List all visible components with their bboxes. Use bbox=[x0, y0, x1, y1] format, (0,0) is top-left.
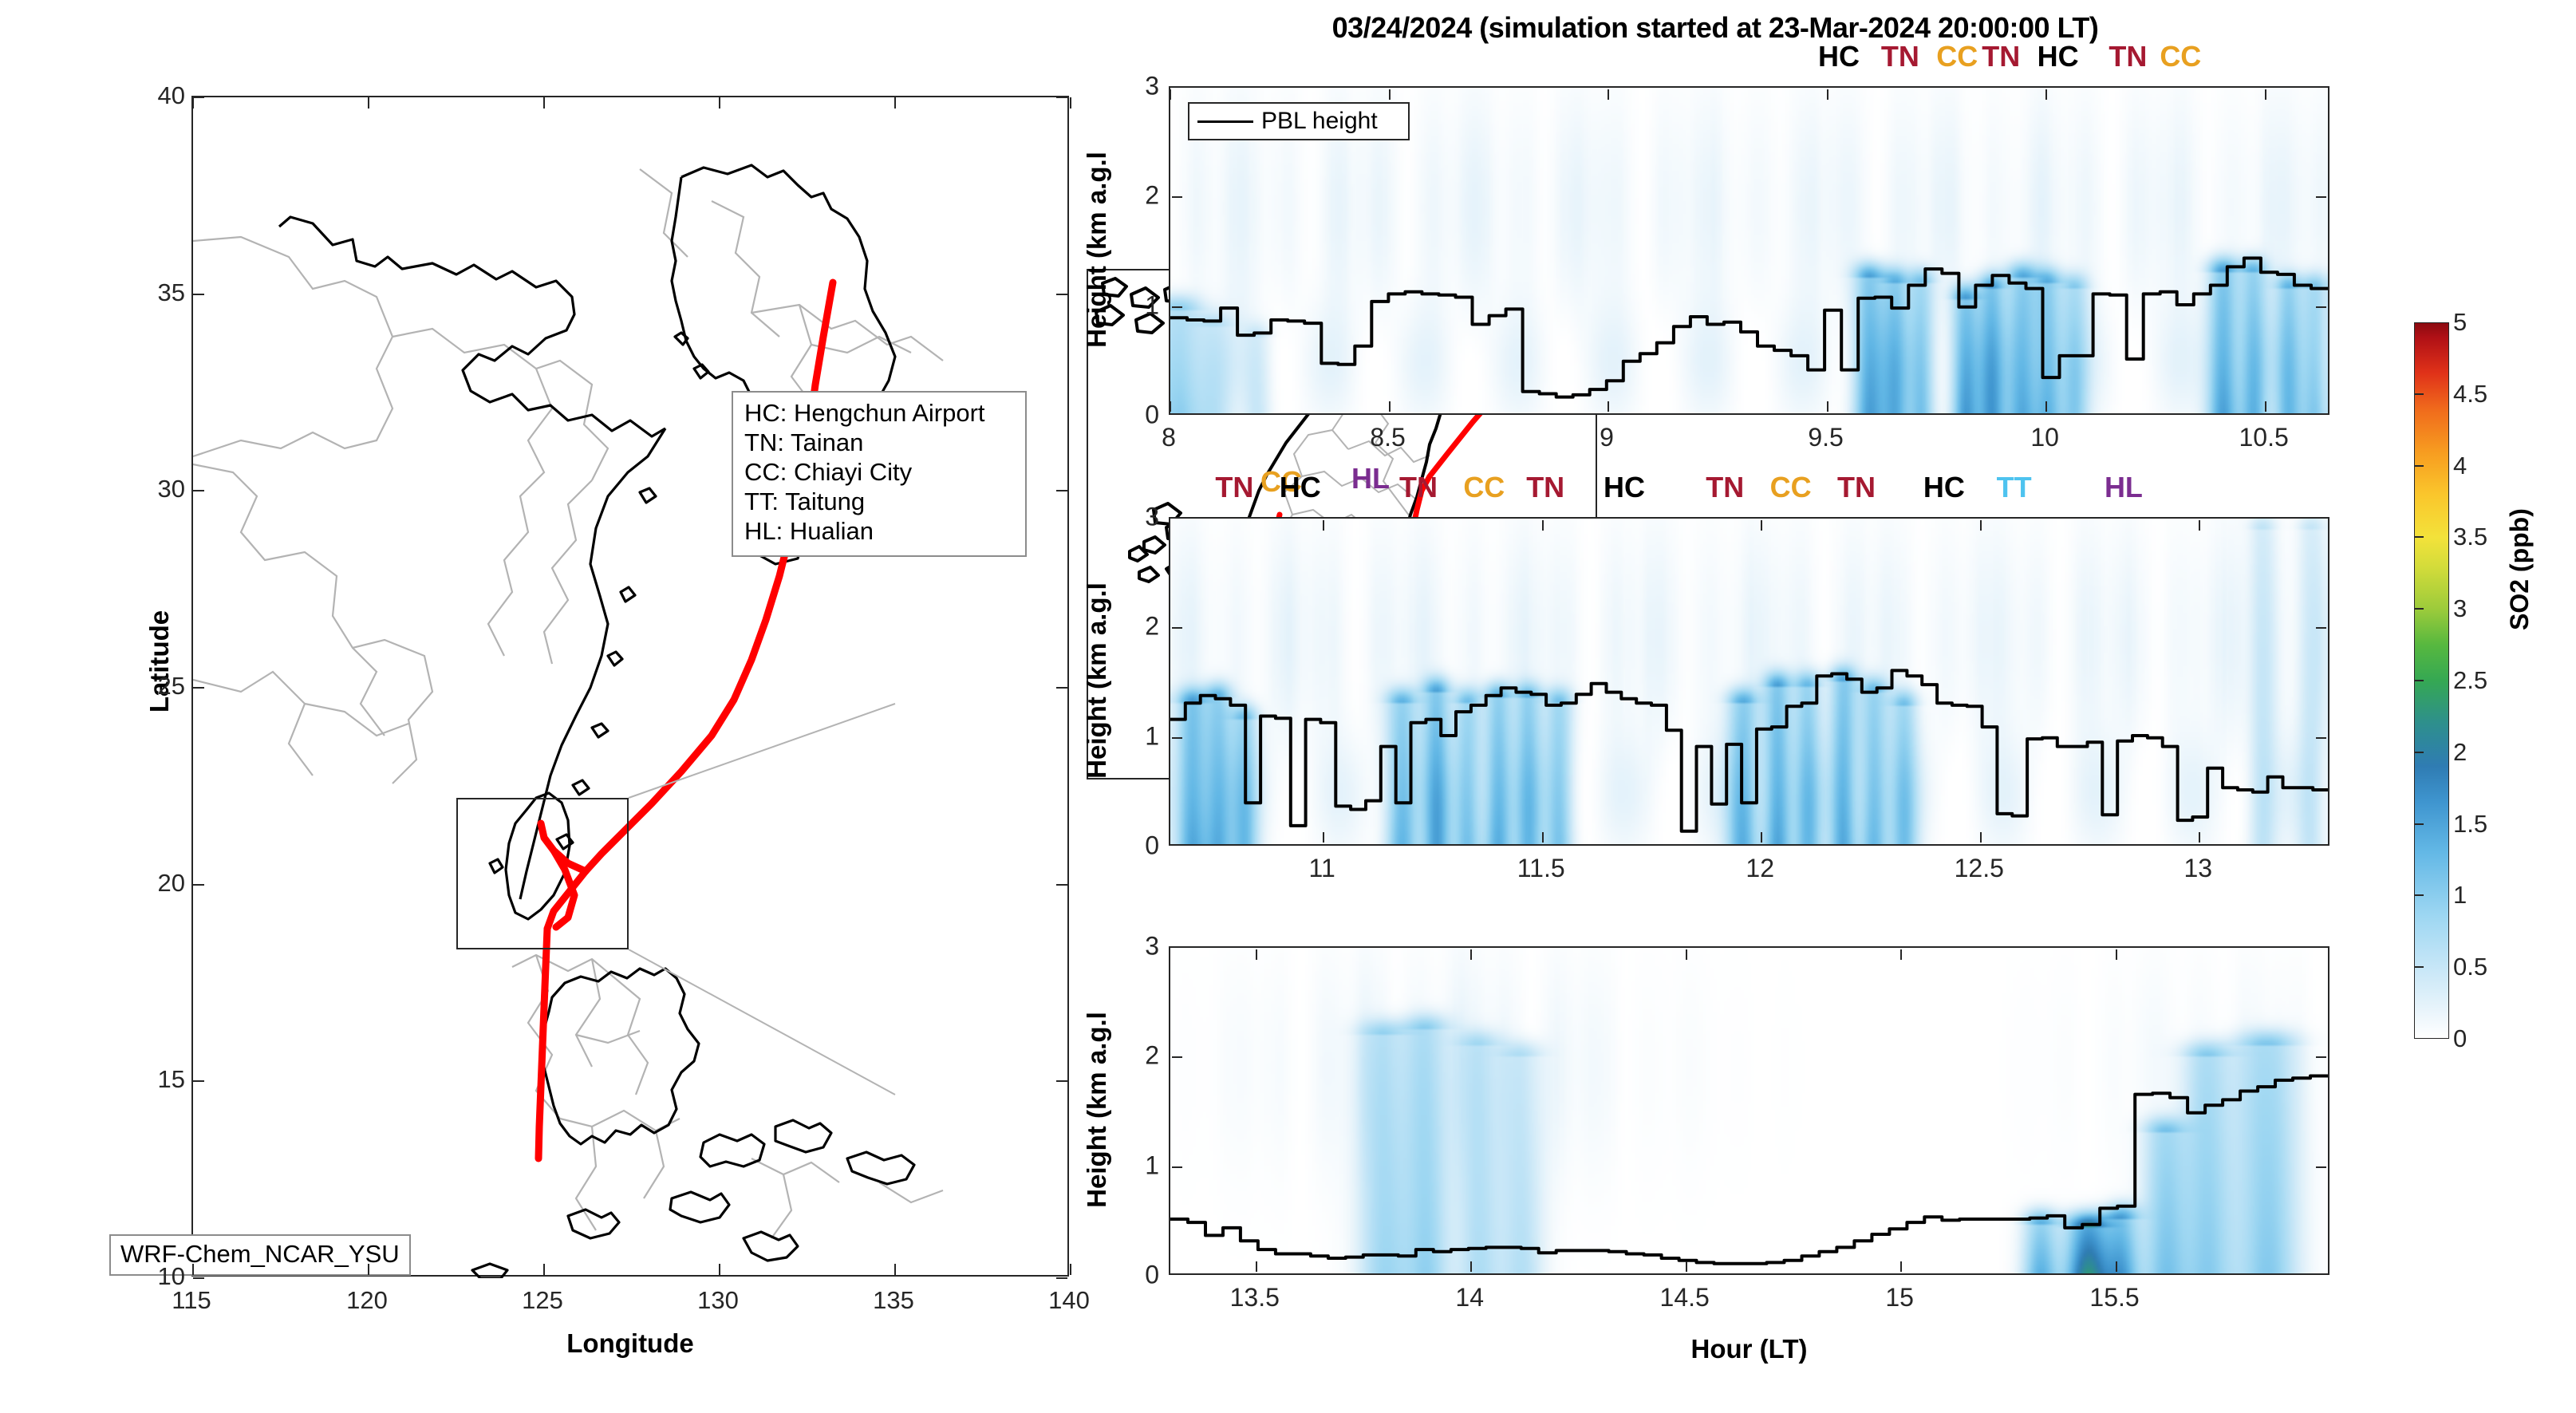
panel-1-xtick-mark bbox=[1827, 89, 1828, 100]
panel-2-ytick-mark bbox=[2316, 737, 2326, 739]
map-xtick-mark bbox=[894, 1264, 896, 1275]
panel-1-xtick-label: 9 bbox=[1600, 423, 1614, 452]
colorbar-tick-mark bbox=[2414, 966, 2424, 968]
panel-1-xtick-label: 8 bbox=[1162, 423, 1176, 452]
legend-item-tt: TT: Taitung bbox=[744, 487, 1014, 517]
panel-1-ytick-mark bbox=[1172, 196, 1182, 198]
panel-2-xtick-label: 11 bbox=[1309, 854, 1335, 883]
panel-3-xtick-mark bbox=[1900, 1261, 1902, 1272]
colorbar-tick-label: 0 bbox=[2453, 1024, 2467, 1053]
panel-2-xtick-mark bbox=[1980, 520, 1982, 531]
site-marker-tt-p2-10: TT bbox=[1997, 471, 2032, 504]
panel-1-ytick-mark bbox=[2316, 196, 2326, 198]
panel-1-ytick-label: 3 bbox=[1111, 72, 1159, 101]
panel-2-axes bbox=[1169, 517, 2329, 846]
panel-1-ytick-label: 1 bbox=[1111, 290, 1159, 320]
panel-3-y-axis-label: Height (km a.g.l bbox=[1082, 942, 1112, 1277]
panel-2-xtick-mark bbox=[1980, 832, 1982, 843]
panel-1-xtick-mark bbox=[2045, 401, 2047, 412]
panel-2-xtick-label: 13 bbox=[2183, 854, 2212, 883]
map-xtick-mark bbox=[719, 1264, 720, 1275]
map-xtick-mark bbox=[192, 1264, 194, 1275]
colorbar-tick-mark bbox=[2414, 608, 2424, 610]
map-xtick-label: 120 bbox=[346, 1286, 388, 1315]
map-ytick-mark bbox=[193, 490, 204, 491]
site-marker-tn-p2-4: TN bbox=[1526, 471, 1564, 504]
panel-3-ytick-mark bbox=[1172, 1166, 1182, 1168]
map-xtick-mark bbox=[1070, 97, 1071, 109]
map-ytick-label: 35 bbox=[113, 278, 185, 307]
colorbar-tick-mark bbox=[2414, 393, 2424, 395]
site-marker-hc-p2-1: HC bbox=[1280, 471, 1321, 504]
map-axes: HC: Hengchun Airport TN: Tainan CC: Chia… bbox=[191, 96, 1069, 1277]
panel-3-xtick-label: 14.5 bbox=[1660, 1283, 1710, 1312]
panel-2-xtick-mark bbox=[1323, 832, 1324, 843]
panel-1-xtick-label: 8.5 bbox=[1370, 423, 1405, 452]
map-xtick-label: 130 bbox=[697, 1286, 739, 1315]
panel-1-xtick-label: 10 bbox=[2030, 423, 2059, 452]
map-xtick-mark bbox=[543, 97, 545, 109]
map-xtick-mark bbox=[1070, 1264, 1071, 1275]
colorbar-tick-label: 3.5 bbox=[2453, 523, 2487, 551]
map-ytick-mark bbox=[193, 687, 204, 689]
legend-item-cc: CC: Chiayi City bbox=[744, 458, 1014, 487]
panel-1-xtick-mark bbox=[1389, 401, 1391, 412]
map-xtick-mark bbox=[719, 97, 720, 109]
panel-3-axes bbox=[1169, 946, 2329, 1275]
map-ytick-mark bbox=[1056, 884, 1067, 886]
panel-2-xtick-mark bbox=[1542, 520, 1544, 531]
map-ytick-mark bbox=[193, 884, 204, 886]
map-xtick-label: 140 bbox=[1048, 1286, 1090, 1315]
panel-1-xtick-mark bbox=[2265, 89, 2266, 100]
panel-3-ytick-mark bbox=[2316, 1056, 2326, 1058]
panel-3-ytick-label: 2 bbox=[1111, 1041, 1159, 1071]
map-ytick-label: 15 bbox=[113, 1065, 185, 1094]
panel-3-ytick-label: 3 bbox=[1111, 932, 1159, 961]
panel-3-xtick-label: 13.5 bbox=[1230, 1283, 1280, 1312]
site-marker-tn-p2-8: TN bbox=[1837, 471, 1876, 504]
site-marker-tn-p1-1: TN bbox=[1881, 40, 1919, 73]
panel-3-xtick-mark bbox=[1470, 949, 1472, 960]
map-ytick-label: 30 bbox=[113, 475, 185, 503]
panel-1-ytick-mark bbox=[2316, 306, 2326, 308]
panel-2-xtick-mark bbox=[2199, 520, 2200, 531]
panel-3-ytick-label: 0 bbox=[1111, 1261, 1159, 1290]
site-marker-hc-p1-4: HC bbox=[2038, 40, 2079, 73]
map-ytick-mark bbox=[1056, 1277, 1067, 1279]
map-xtick-mark bbox=[192, 97, 194, 109]
map-ytick-mark bbox=[193, 294, 204, 295]
panel-3-xtick-mark bbox=[1900, 949, 1902, 960]
map-ytick-mark bbox=[1056, 490, 1067, 491]
map-panel: HC: Hengchun Airport TN: Tainan CC: Chia… bbox=[191, 96, 1069, 1277]
panel-2-ytick-mark bbox=[2316, 627, 2326, 629]
map-xtick-label: 135 bbox=[873, 1286, 914, 1315]
map-ytick-mark bbox=[1056, 687, 1067, 689]
colorbar-tick-label: 2 bbox=[2453, 738, 2467, 767]
panel-2-ytick-label: 0 bbox=[1111, 831, 1159, 861]
panel-1-xtick-mark bbox=[1608, 401, 1609, 412]
panel-3-ytick-label: 1 bbox=[1111, 1151, 1159, 1180]
panel-2-ytick-label: 2 bbox=[1111, 612, 1159, 641]
colorbar-tick-label: 0.5 bbox=[2453, 953, 2487, 981]
pbl-line-swatch bbox=[1197, 120, 1253, 123]
panel-2-ytick-label: 3 bbox=[1111, 503, 1159, 532]
colorbar-tick-mark bbox=[2414, 465, 2424, 467]
panel-3-xtick-label: 15.5 bbox=[2089, 1283, 2139, 1312]
colorbar-tick-mark bbox=[2414, 894, 2424, 896]
panel-3-xtick-mark bbox=[1256, 949, 1257, 960]
colorbar-tick-mark bbox=[2414, 823, 2424, 825]
colorbar-label: SO2 (ppb) bbox=[2505, 508, 2535, 630]
legend-item-hc: HC: Hengchun Airport bbox=[744, 399, 1014, 428]
colorbar-tick-label: 1 bbox=[2453, 881, 2467, 910]
map-xtick-mark bbox=[543, 1264, 545, 1275]
map-ytick-mark bbox=[193, 97, 204, 98]
map-ytick-mark bbox=[193, 1080, 204, 1082]
site-marker-tn-p1-3: TN bbox=[1982, 40, 2020, 73]
pbl-height-legend: PBL height bbox=[1188, 102, 1410, 140]
timeheight-panel-2: 01231111.51212.513Height (km a.g.lTNHCTN… bbox=[1169, 517, 2329, 846]
map-coastlines bbox=[193, 97, 1071, 1278]
colorbar-tick-mark bbox=[2414, 536, 2424, 538]
map-ytick-mark bbox=[1056, 294, 1067, 295]
panel-3-xtick-mark bbox=[1686, 949, 1687, 960]
site-marker-tn-p2-0: TN bbox=[1215, 471, 1253, 504]
inset-label-hl: HL bbox=[1351, 462, 1390, 495]
panel-2-y-axis-label: Height (km a.g.l bbox=[1082, 513, 1112, 848]
panel-1-y-axis-label: Height (km a.g.l bbox=[1082, 82, 1112, 417]
panel-1-xtick-mark bbox=[2045, 89, 2047, 100]
pbl-legend-label: PBL height bbox=[1261, 108, 1378, 135]
panel-2-xtick-mark bbox=[1542, 832, 1544, 843]
panel-3-xtick-label: 14 bbox=[1455, 1283, 1484, 1312]
timeheight-panel-1: PBL height012388.599.51010.5Height (km a… bbox=[1169, 86, 2329, 415]
map-ytick-mark bbox=[193, 1277, 204, 1279]
site-marker-cc-p2-3: CC bbox=[1463, 471, 1505, 504]
map-xtick-label: 115 bbox=[172, 1286, 211, 1315]
panel-1-xtick-mark bbox=[1389, 89, 1391, 100]
panel-2-ytick-label: 1 bbox=[1111, 721, 1159, 751]
panel-2-pbl-height-line bbox=[1170, 519, 2328, 844]
panel-1-xtick-mark bbox=[2265, 401, 2266, 412]
panel-1-xtick-label: 10.5 bbox=[2239, 423, 2289, 452]
colorbar-tick-mark bbox=[2414, 680, 2424, 681]
map-xtick-mark bbox=[368, 97, 369, 109]
map-ytick-label: 20 bbox=[113, 869, 185, 898]
inset-region-rectangle bbox=[456, 798, 629, 949]
map-ytick-mark bbox=[1056, 1080, 1067, 1082]
panel-2-xtick-label: 12.5 bbox=[1955, 854, 2004, 883]
site-marker-cc-p1-6: CC bbox=[2160, 40, 2201, 73]
panel-3-xtick-label: 15 bbox=[1885, 1283, 1914, 1312]
site-marker-hc-p2-9: HC bbox=[1923, 471, 1965, 504]
legend-item-tn: TN: Tainan bbox=[744, 428, 1014, 458]
site-marker-cc-p2-7: CC bbox=[1770, 471, 1812, 504]
panel-3-pbl-height-line bbox=[1170, 948, 2328, 1273]
map-ytick-label: 25 bbox=[113, 672, 185, 701]
map-xtick-label: 125 bbox=[522, 1286, 563, 1315]
panel-1-xtick-mark bbox=[1170, 401, 1171, 412]
map-y-axis-label: Latitude bbox=[144, 558, 175, 765]
panel-3-xtick-mark bbox=[1256, 1261, 1257, 1272]
map-xtick-mark bbox=[368, 1264, 369, 1275]
panel-2-xtick-mark bbox=[1761, 832, 1762, 843]
colorbar-tick-label: 4 bbox=[2453, 452, 2467, 480]
panel-2-xtick-mark bbox=[1761, 520, 1762, 531]
panel-3-ytick-mark bbox=[2316, 1166, 2326, 1168]
legend-item-hl: HL: Hualian bbox=[744, 517, 1014, 547]
panel-1-xtick-mark bbox=[1170, 89, 1171, 100]
colorbar-tick-label: 1.5 bbox=[2453, 810, 2487, 839]
site-marker-cc-p1-2: CC bbox=[1936, 40, 1978, 73]
site-marker-hl-p2-11: HL bbox=[2105, 471, 2143, 504]
colorbar-tick-mark bbox=[2414, 752, 2424, 753]
panel-1-axes: PBL height bbox=[1169, 86, 2329, 415]
panel-1-xtick-label: 9.5 bbox=[1808, 423, 1843, 452]
site-marker-tn-p2-6: TN bbox=[1706, 471, 1744, 504]
panel-1-xtick-mark bbox=[1827, 401, 1828, 412]
site-marker-hc-p2-5: HC bbox=[1604, 471, 1645, 504]
panel-2-xtick-mark bbox=[1323, 520, 1324, 531]
site-marker-hc-p1-0: HC bbox=[1818, 40, 1860, 73]
hour-axis-label: Hour (LT) bbox=[1169, 1334, 2329, 1364]
site-marker-tn-p1-5: TN bbox=[2109, 40, 2147, 73]
panel-2-xtick-label: 12 bbox=[1746, 854, 1774, 883]
colorbar-tick-label: 3 bbox=[2453, 594, 2467, 623]
map-ytick-label: 40 bbox=[113, 81, 185, 110]
site-marker-tn-p2-2: TN bbox=[1399, 471, 1438, 504]
panel-2-ytick-mark bbox=[1172, 627, 1182, 629]
panel-3-xtick-mark bbox=[1686, 1261, 1687, 1272]
colorbar-tick-label: 5 bbox=[2453, 308, 2467, 337]
panel-1-ytick-mark bbox=[1172, 306, 1182, 308]
panel-3-xtick-mark bbox=[2116, 949, 2117, 960]
map-ytick-mark bbox=[1056, 97, 1067, 98]
panel-3-xtick-mark bbox=[1470, 1261, 1472, 1272]
colorbar-tick-label: 2.5 bbox=[2453, 666, 2487, 695]
map-xtick-mark bbox=[894, 97, 896, 109]
panel-1-xtick-mark bbox=[1608, 89, 1609, 100]
city-abbreviation-legend: HC: Hengchun Airport TN: Tainan CC: Chia… bbox=[732, 391, 1027, 557]
panel-2-ytick-mark bbox=[1172, 737, 1182, 739]
panel-3-xtick-mark bbox=[2116, 1261, 2117, 1272]
panel-3-ytick-mark bbox=[1172, 1056, 1182, 1058]
panel-1-ytick-label: 0 bbox=[1111, 401, 1159, 430]
panel-2-xtick-mark bbox=[2199, 832, 2200, 843]
colorbar-tick-label: 4.5 bbox=[2453, 380, 2487, 409]
map-x-axis-label: Longitude bbox=[191, 1328, 1069, 1359]
panel-1-ytick-label: 2 bbox=[1111, 181, 1159, 211]
panel-2-xtick-label: 11.5 bbox=[1517, 854, 1565, 883]
timeheight-panel-3: 012313.51414.51515.5Height (km a.g.lHour… bbox=[1169, 946, 2329, 1275]
